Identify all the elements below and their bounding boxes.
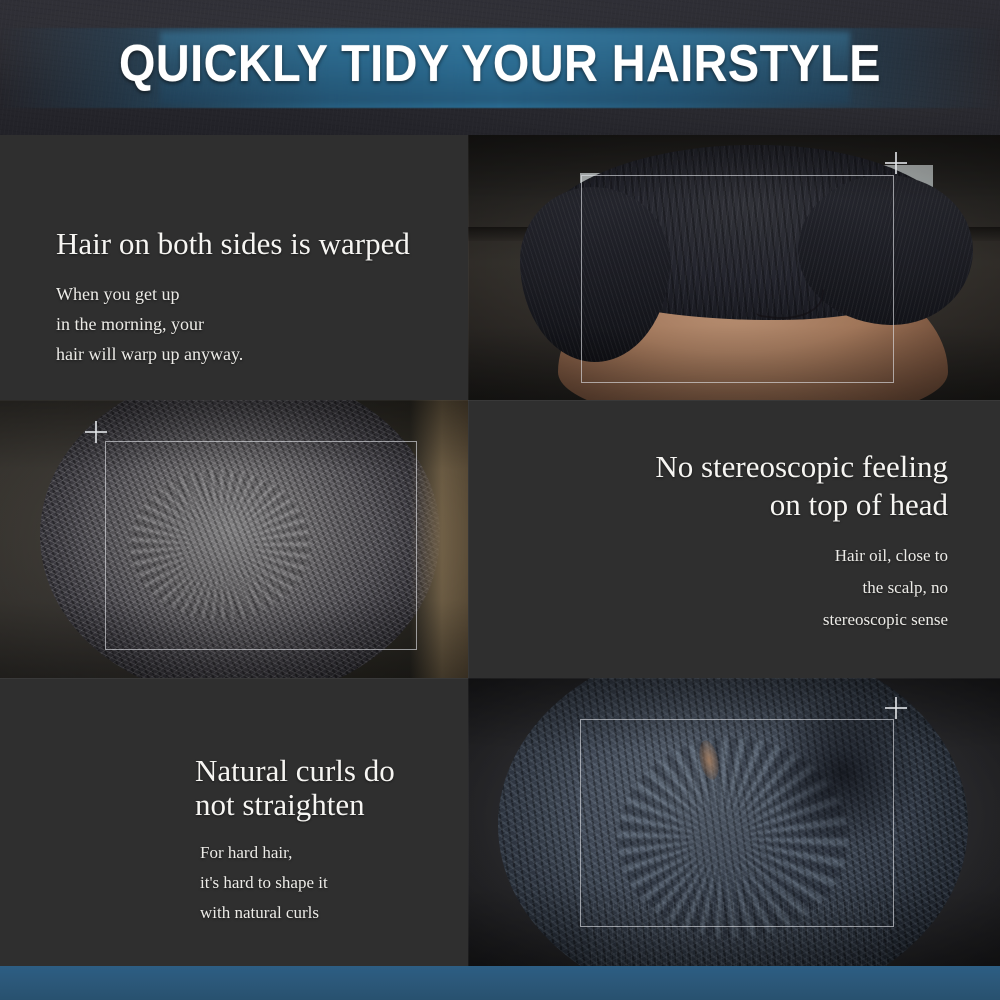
- feature-photo-cell-no-stereoscopic: [0, 400, 468, 678]
- feature-headline-natural-curls: Natural curls do not straighten: [195, 754, 395, 822]
- photo-side-hair-right: [798, 175, 973, 325]
- text-block-hair-warped: Hair on both sides is warped When you ge…: [56, 225, 410, 369]
- footer-accent-bar: [0, 966, 1000, 1000]
- grid-divider-vertical: [468, 678, 469, 966]
- body-line: For hard hair,: [200, 838, 395, 868]
- body-line: with natural curls: [200, 898, 395, 928]
- feature-row-no-stereoscopic: No stereoscopic feeling on top of head H…: [0, 400, 1000, 678]
- photo-dark-shadow: [768, 698, 918, 848]
- body-line: the scalp, no: [655, 572, 948, 604]
- body-line: in the morning, your: [56, 309, 410, 339]
- photo-natural-curls: [468, 678, 1000, 966]
- headline-line: No stereoscopic feeling: [655, 449, 948, 484]
- headline-line: not straighten: [195, 787, 365, 822]
- feature-body-natural-curls: For hard hair, it's hard to shape it wit…: [195, 838, 395, 928]
- body-line: stereoscopic sense: [655, 604, 948, 636]
- body-line: hair will warp up anyway.: [56, 339, 410, 369]
- text-block-no-stereoscopic: No stereoscopic feeling on top of head H…: [655, 448, 948, 636]
- body-line: When you get up: [56, 279, 410, 309]
- feature-row-hair-warped: Hair on both sides is warped When you ge…: [0, 135, 1000, 400]
- feature-headline-no-stereoscopic: No stereoscopic feeling on top of head: [655, 448, 948, 524]
- photo-hair-swirl: [130, 470, 310, 620]
- promo-infographic-page: QUICKLY TIDY YOUR HAIRSTYLE Hair on both…: [0, 0, 1000, 1000]
- feature-text-cell-natural-curls: Natural curls do not straighten For hard…: [0, 678, 468, 966]
- feature-photo-cell-natural-curls: [468, 678, 1000, 966]
- photo-hair-warped: [468, 135, 1000, 400]
- photo-flat-crown: [0, 400, 468, 678]
- body-line: it's hard to shape it: [200, 868, 395, 898]
- text-block-natural-curls: Natural curls do not straighten For hard…: [195, 754, 395, 928]
- feature-body-hair-warped: When you get up in the morning, your hai…: [56, 279, 410, 369]
- headline-line: on top of head: [770, 487, 948, 522]
- grid-divider-vertical: [468, 135, 469, 400]
- body-line: Hair oil, close to: [655, 540, 948, 572]
- photo-wood-edge: [410, 400, 468, 678]
- page-header: QUICKLY TIDY YOUR HAIRSTYLE: [0, 0, 1000, 135]
- grid-divider-horizontal: [0, 678, 1000, 679]
- photo-hair-fall: [588, 902, 888, 966]
- feature-headline-hair-warped: Hair on both sides is warped: [56, 225, 410, 263]
- feature-photo-cell-hair-warped: [468, 135, 1000, 400]
- feature-row-natural-curls: Natural curls do not straighten For hard…: [0, 678, 1000, 966]
- page-title: QUICKLY TIDY YOUR HAIRSTYLE: [50, 35, 950, 93]
- grid-divider-vertical: [468, 400, 469, 678]
- headline-line: Natural curls do: [195, 753, 395, 788]
- feature-text-cell-no-stereoscopic: No stereoscopic feeling on top of head H…: [468, 400, 1000, 678]
- feature-grid: Hair on both sides is warped When you ge…: [0, 135, 1000, 966]
- feature-body-no-stereoscopic: Hair oil, close to the scalp, no stereos…: [655, 540, 948, 636]
- feature-text-cell-hair-warped: Hair on both sides is warped When you ge…: [0, 135, 468, 400]
- grid-divider-horizontal: [0, 400, 1000, 401]
